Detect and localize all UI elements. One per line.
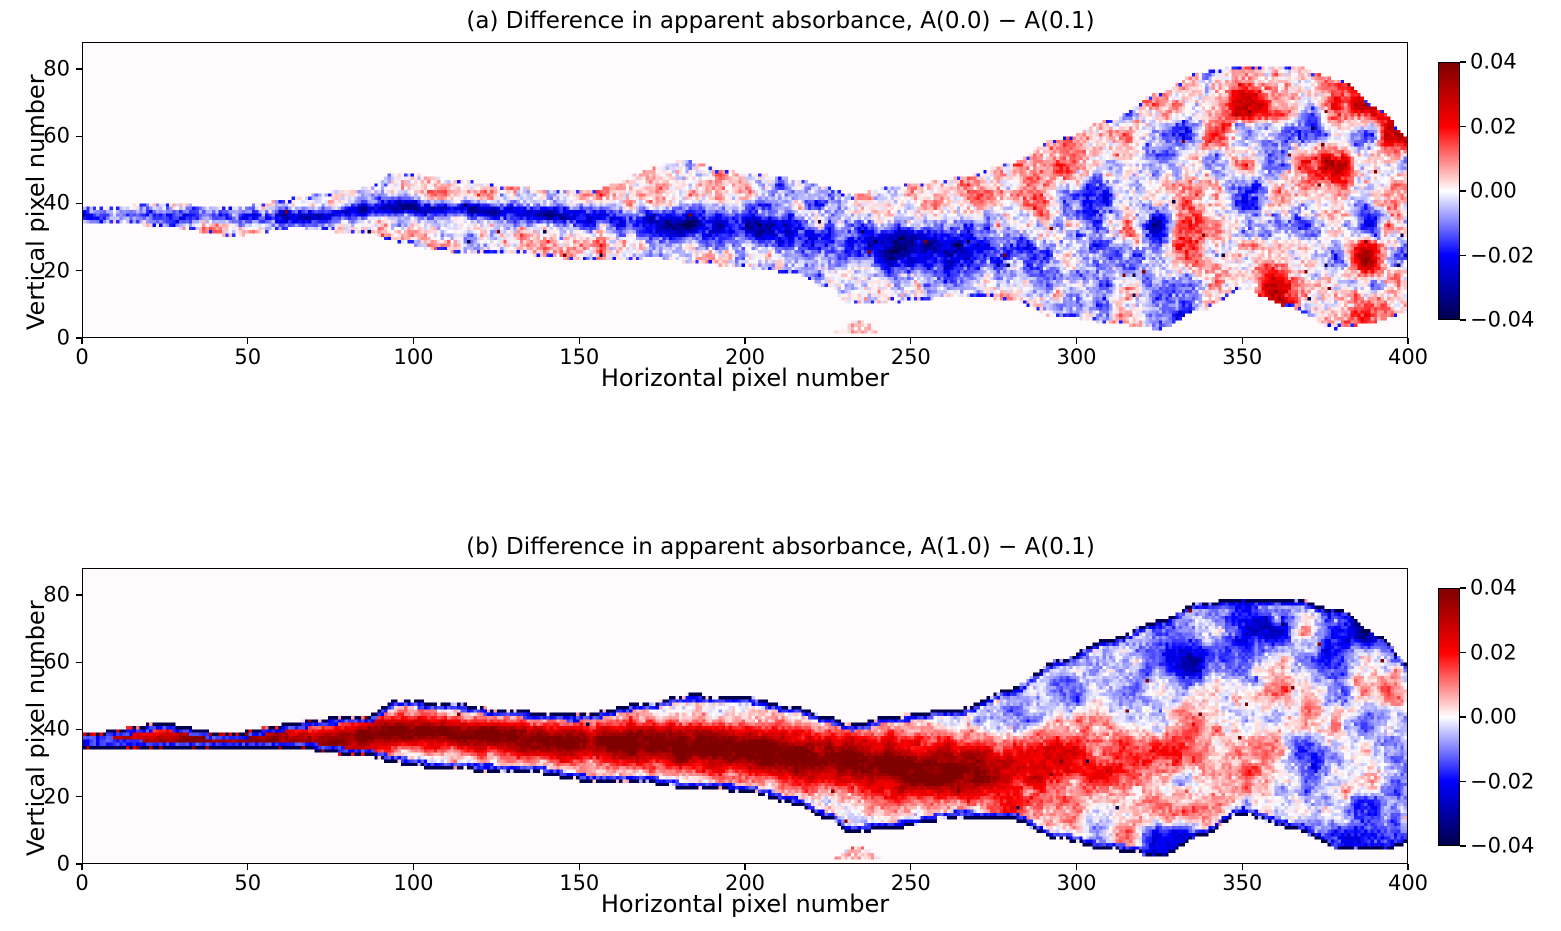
x-tick-label: 0 [75,873,88,894]
colorbar-tick-label: 0.00 [1470,707,1517,728]
x-tick-label: 150 [559,873,599,894]
x-tick-label: 200 [725,347,765,368]
y-tick-label: 40 [26,719,70,740]
panel-b-colorbar-gradient [1439,589,1459,845]
panel-a-colorbar-gradient [1439,63,1459,319]
x-tick [744,338,745,344]
y-tick-label: 20 [26,786,70,807]
panel-b-heatmap [83,569,1407,863]
colorbar-tick-label: −0.02 [1470,771,1534,792]
panel-a: (a) Difference in apparent absorbance, A… [0,0,1561,466]
panel-b: (b) Difference in apparent absorbance, A… [0,526,1561,931]
y-tick-label: 60 [26,126,70,147]
x-tick-label: 300 [1056,873,1096,894]
x-tick-label: 300 [1056,347,1096,368]
y-tick-label: 0 [26,854,70,875]
panel-a-title: (a) Difference in apparent absorbance, A… [0,10,1561,33]
x-tick-label: 50 [234,873,261,894]
x-tick-label: 100 [393,347,433,368]
colorbar-tick [1460,652,1466,653]
x-tick [413,338,414,344]
x-tick-label: 350 [1222,347,1262,368]
colorbar-tick-label: 0.02 [1470,116,1517,137]
x-tick [744,864,745,870]
x-tick-label: 50 [234,347,261,368]
colorbar-tick-label: 0.04 [1470,578,1517,599]
x-tick [579,864,580,870]
x-tick [1076,864,1077,870]
y-tick [76,136,82,137]
colorbar-tick [1460,716,1466,717]
x-tick-label: 100 [393,873,433,894]
y-tick-label: 40 [26,193,70,214]
y-tick [76,270,82,271]
panel-b-xlabel: Horizontal pixel number [82,892,1408,916]
y-tick-label: 80 [26,584,70,605]
colorbar-tick [1460,61,1466,62]
x-tick [413,864,414,870]
x-tick [1076,338,1077,344]
x-tick [247,864,248,870]
colorbar-tick-label: −0.04 [1470,310,1534,331]
colorbar-tick-label: −0.02 [1470,245,1534,266]
x-tick [1242,338,1243,344]
colorbar-tick [1460,126,1466,127]
colorbar-tick [1460,255,1466,256]
x-tick [81,338,82,344]
y-tick [76,729,82,730]
x-tick [1407,864,1408,870]
panel-a-heatmap [83,43,1407,337]
y-tick [76,796,82,797]
colorbar-tick [1460,319,1466,320]
colorbar-tick-label: 0.00 [1470,181,1517,202]
y-tick-label: 60 [26,652,70,673]
colorbar-tick-label: 0.02 [1470,642,1517,663]
colorbar-tick [1460,190,1466,191]
y-tick-label: 0 [26,328,70,349]
x-tick [910,864,911,870]
panel-b-title: (b) Difference in apparent absorbance, A… [0,536,1561,559]
x-tick-label: 150 [559,347,599,368]
x-tick [247,338,248,344]
y-tick [76,68,82,69]
colorbar-tick [1460,845,1466,846]
figure-canvas: (a) Difference in apparent absorbance, A… [0,0,1561,931]
y-tick [76,594,82,595]
colorbar-tick-label: −0.04 [1470,836,1534,857]
y-tick [76,203,82,204]
x-tick-label: 400 [1388,347,1428,368]
x-tick-label: 350 [1222,873,1262,894]
colorbar-tick [1460,781,1466,782]
panel-b-colorbar [1438,588,1460,846]
y-tick [76,662,82,663]
panel-a-xlabel: Horizontal pixel number [82,366,1408,390]
y-tick [76,337,82,338]
x-tick-label: 250 [891,347,931,368]
x-tick [81,864,82,870]
panel-a-axes [82,42,1408,338]
x-tick [1242,864,1243,870]
x-tick [910,338,911,344]
x-tick-label: 400 [1388,873,1428,894]
colorbar-tick-label: 0.04 [1470,52,1517,73]
y-tick [76,863,82,864]
y-tick-label: 80 [26,58,70,79]
x-tick-label: 0 [75,347,88,368]
panel-a-colorbar [1438,62,1460,320]
x-tick-label: 250 [891,873,931,894]
x-tick-label: 200 [725,873,765,894]
x-tick [579,338,580,344]
y-tick-label: 20 [26,260,70,281]
x-tick [1407,338,1408,344]
panel-b-axes [82,568,1408,864]
colorbar-tick [1460,587,1466,588]
